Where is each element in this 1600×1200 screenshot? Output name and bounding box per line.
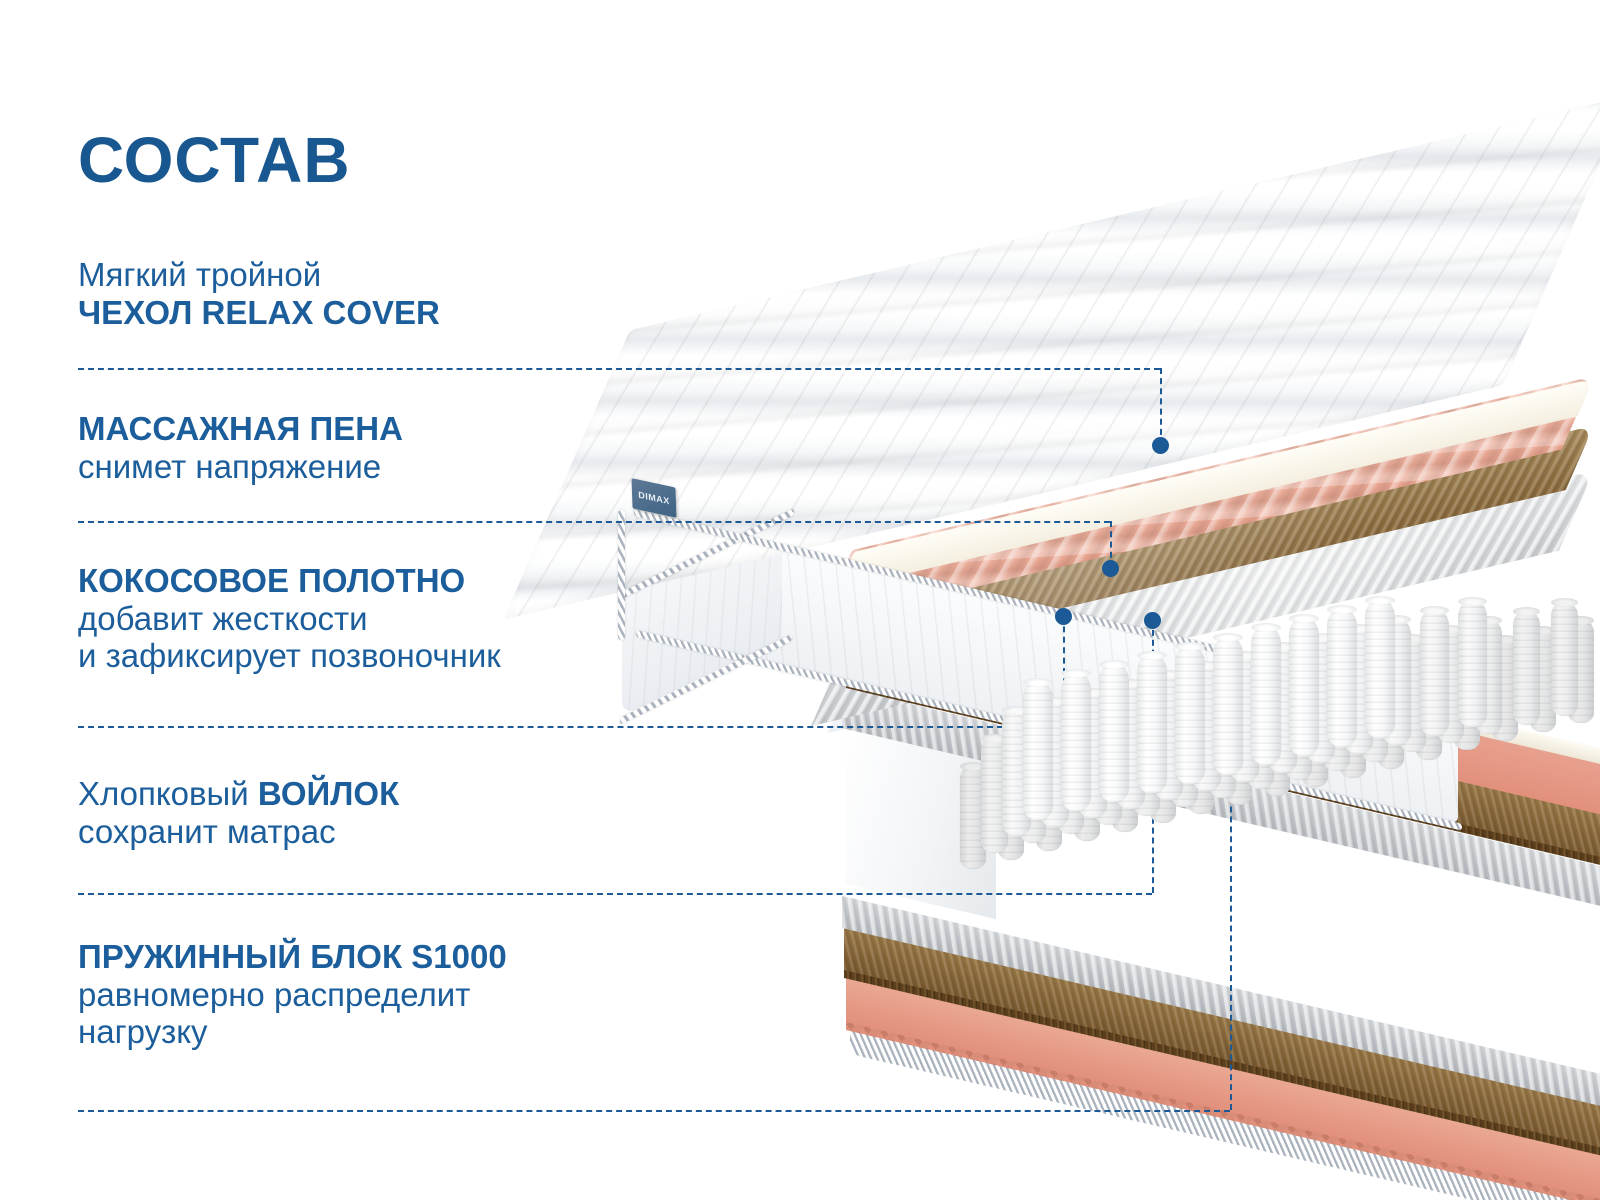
cover-left-vertical-piping [618, 510, 625, 640]
leader-line-h-felt [78, 893, 1152, 895]
label-spring-block-line2: равномерно распределит [78, 976, 507, 1014]
label-massage-foam: МАССАЖНАЯ ПЕНА снимет напряжение [78, 410, 403, 485]
pocket-spring [1061, 673, 1091, 811]
label-coconut-sheet-line1: КОКОСОВОЕ ПОЛОТНО [78, 562, 501, 600]
pocket-spring [1551, 602, 1578, 717]
pocket-spring [1175, 646, 1205, 784]
label-cotton-felt-keyword: ВОЙЛОК [258, 775, 399, 812]
pocket-spring [1327, 609, 1357, 747]
pocket-spring [1365, 600, 1395, 738]
leader-line-h-foam [78, 521, 1110, 523]
label-coconut-sheet-line3: и зафиксирует позвоночник [78, 637, 501, 675]
pocket-spring [1513, 611, 1540, 726]
pocket-spring [1213, 637, 1243, 775]
pocket-spring [1289, 618, 1319, 756]
leader-dot-felt [1144, 612, 1161, 629]
label-relax-cover: Мягкий тройной ЧЕХОЛ RELAX COVER [78, 256, 440, 331]
leader-line-h-spring [78, 1110, 1230, 1112]
leader-dot-cover [1152, 437, 1169, 454]
pocket-spring [1251, 627, 1281, 765]
label-cotton-felt-line1: Хлопковый ВОЙЛОК [78, 775, 399, 813]
label-coconut-sheet: КОКОСОВОЕ ПОЛОТНО добавит жесткости и за… [78, 562, 501, 675]
pocket-spring [1023, 682, 1053, 820]
page-title: СОСТАВ [78, 128, 351, 192]
label-massage-foam-line2: снимет напряжение [78, 448, 403, 486]
pocket-spring [1420, 610, 1449, 736]
label-spring-block-line3: нагрузку [78, 1013, 507, 1051]
leader-line-h-coir [78, 726, 1063, 728]
label-relax-cover-line2: ЧЕХОЛ RELAX COVER [78, 294, 440, 332]
pocket-spring [1099, 664, 1129, 802]
pocket-spring [1458, 601, 1487, 727]
leader-dot-foam [1102, 560, 1119, 577]
brand-tag-text: DIMAX [638, 490, 670, 507]
label-coconut-sheet-line2: добавит жесткости [78, 600, 501, 638]
pocket-spring [1137, 655, 1167, 793]
leader-line-h-cover [78, 368, 1160, 370]
label-relax-cover-line1: Мягкий тройной [78, 256, 440, 294]
label-massage-foam-line1: МАССАЖНАЯ ПЕНА [78, 410, 403, 448]
mattress-cutaway: DIMAX [560, 300, 1600, 1100]
leader-dot-coir [1055, 608, 1072, 625]
label-cotton-felt: Хлопковый ВОЙЛОК сохранит матрас [78, 775, 399, 850]
label-spring-block-line1: ПРУЖИННЫЙ БЛОК S1000 [78, 938, 507, 976]
label-cotton-felt-line2: сохранит матрас [78, 813, 399, 851]
label-cotton-felt-prefix: Хлопковый [78, 775, 258, 812]
label-spring-block: ПРУЖИННЫЙ БЛОК S1000 равномерно распреде… [78, 938, 507, 1051]
leader-line-v-cover [1160, 368, 1162, 445]
infographic-canvas: СОСТАВ Мягкий тройной ЧЕХОЛ RELAX COVER … [0, 0, 1600, 1200]
